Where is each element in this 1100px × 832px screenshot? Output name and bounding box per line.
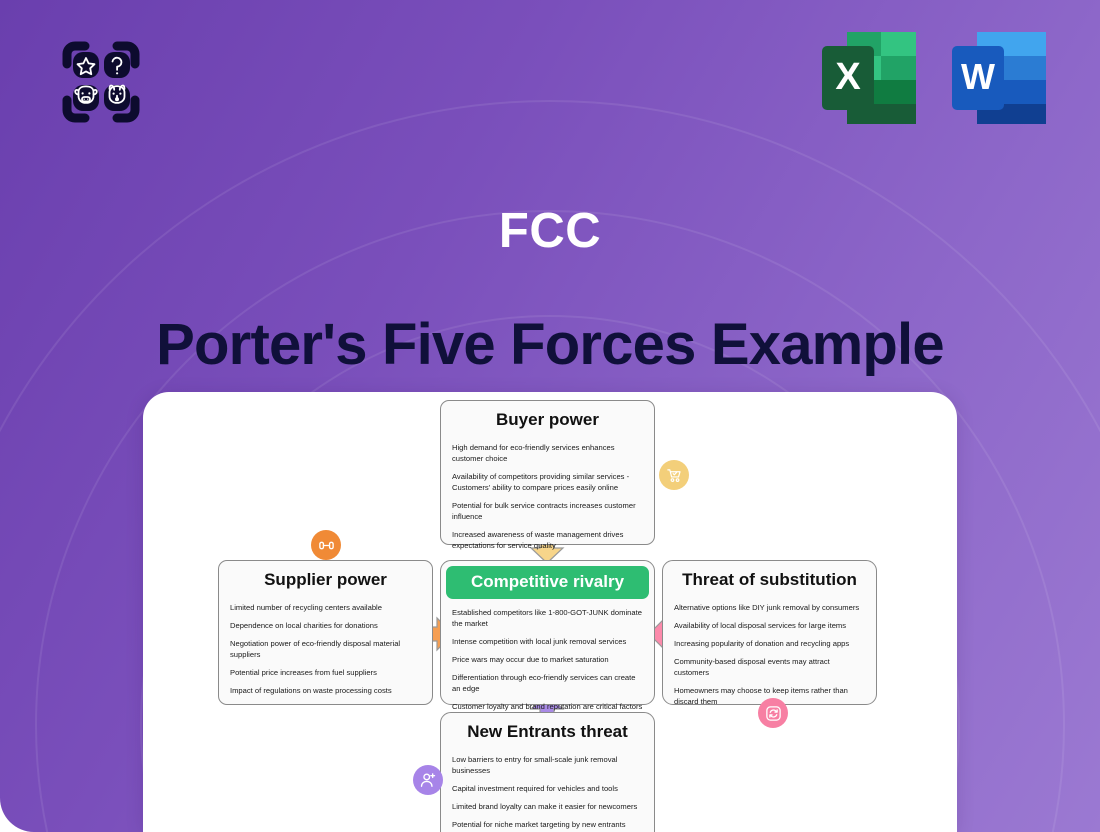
- svg-text:W: W: [961, 56, 995, 97]
- question-mark-dot: [116, 72, 118, 74]
- list-item: Capital investment required for vehicles…: [452, 783, 643, 794]
- list-item: Increased awareness of waste management …: [452, 529, 643, 551]
- force-title-new-entrants: New Entrants threat: [441, 713, 654, 749]
- list-item: Community-based disposal events may attr…: [674, 656, 865, 678]
- badge-substitution[interactable]: [758, 698, 788, 728]
- list-item: Limited brand loyalty can make it easier…: [452, 801, 643, 812]
- badge-new-entrants[interactable]: [413, 765, 443, 795]
- office-icons-group: X W: [818, 28, 1050, 133]
- list-item: Impact of regulations on waste processin…: [230, 685, 421, 696]
- force-box-substitution[interactable]: Threat of substitution Alternative optio…: [662, 560, 877, 705]
- force-title-supplier: Supplier power: [219, 561, 432, 597]
- list-item: Potential for niche market targeting by …: [452, 819, 643, 830]
- list-item: Low barriers to entry for small-scale ju…: [452, 754, 643, 776]
- force-box-competitive-rivalry[interactable]: Competitive rivalry Established competit…: [440, 560, 655, 705]
- list-item: Alternative options like DIY junk remova…: [674, 602, 865, 613]
- force-list-new-entrants: Low barriers to entry for small-scale ju…: [441, 749, 654, 832]
- force-title-substitution: Threat of substitution: [663, 561, 876, 597]
- list-item: Availability of competitors providing si…: [452, 471, 643, 493]
- list-item: Established competitors like 1-800-GOT-J…: [452, 607, 643, 629]
- badge-supplier[interactable]: [311, 530, 341, 560]
- force-list-competitive-rivalry: Established competitors like 1-800-GOT-J…: [441, 602, 654, 727]
- list-item: Dependence on local charities for donati…: [230, 620, 421, 631]
- force-box-buyer[interactable]: Buyer power High demand for eco-friendly…: [440, 400, 655, 545]
- force-list-buyer: High demand for eco-friendly services en…: [441, 437, 654, 566]
- list-item: Potential price increases from fuel supp…: [230, 667, 421, 678]
- word-icon[interactable]: W: [948, 28, 1050, 133]
- brand-name: FCC: [0, 207, 1100, 256]
- list-item: Price wars may occur due to market satur…: [452, 654, 643, 665]
- list-item: Intense competition with local junk remo…: [452, 636, 643, 647]
- force-box-supplier[interactable]: Supplier power Limited number of recycli…: [218, 560, 433, 705]
- force-title-competitive-rivalry: Competitive rivalry: [446, 566, 649, 599]
- refresh-swap-icon: [765, 705, 782, 722]
- content-card: Buyer power High demand for eco-friendly…: [143, 392, 957, 832]
- page-title: Porter's Five Forces Example: [0, 312, 1100, 379]
- badge-buyer[interactable]: [659, 460, 689, 490]
- list-item: Differentiation through eco-friendly ser…: [452, 672, 643, 694]
- force-title-buyer: Buyer power: [441, 401, 654, 437]
- list-item: Negotiation power of eco-friendly dispos…: [230, 638, 421, 660]
- svg-text:X: X: [835, 56, 861, 98]
- screenshot-root: X W FCC Porter's Five Forces Example: [0, 0, 1100, 832]
- add-person-icon: [419, 771, 437, 789]
- porters-five-forces-diagram: Buyer power High demand for eco-friendly…: [143, 392, 957, 832]
- force-box-new-entrants[interactable]: New Entrants threat Low barriers to entr…: [440, 712, 655, 832]
- list-item: Limited number of recycling centers avai…: [230, 602, 421, 613]
- excel-icon[interactable]: X: [818, 28, 920, 133]
- list-item: Increasing popularity of donation and re…: [674, 638, 865, 649]
- link-icon: [318, 537, 335, 554]
- force-list-supplier: Limited number of recycling centers avai…: [219, 597, 432, 711]
- shopping-cart-icon: [666, 467, 683, 484]
- list-item: High demand for eco-friendly services en…: [452, 442, 643, 464]
- brand-logo[interactable]: [47, 28, 155, 136]
- list-item: Potential for bulk service contracts inc…: [452, 500, 643, 522]
- list-item: Customer loyalty and brand reputation ar…: [452, 701, 643, 712]
- list-item: Availability of local disposal services …: [674, 620, 865, 631]
